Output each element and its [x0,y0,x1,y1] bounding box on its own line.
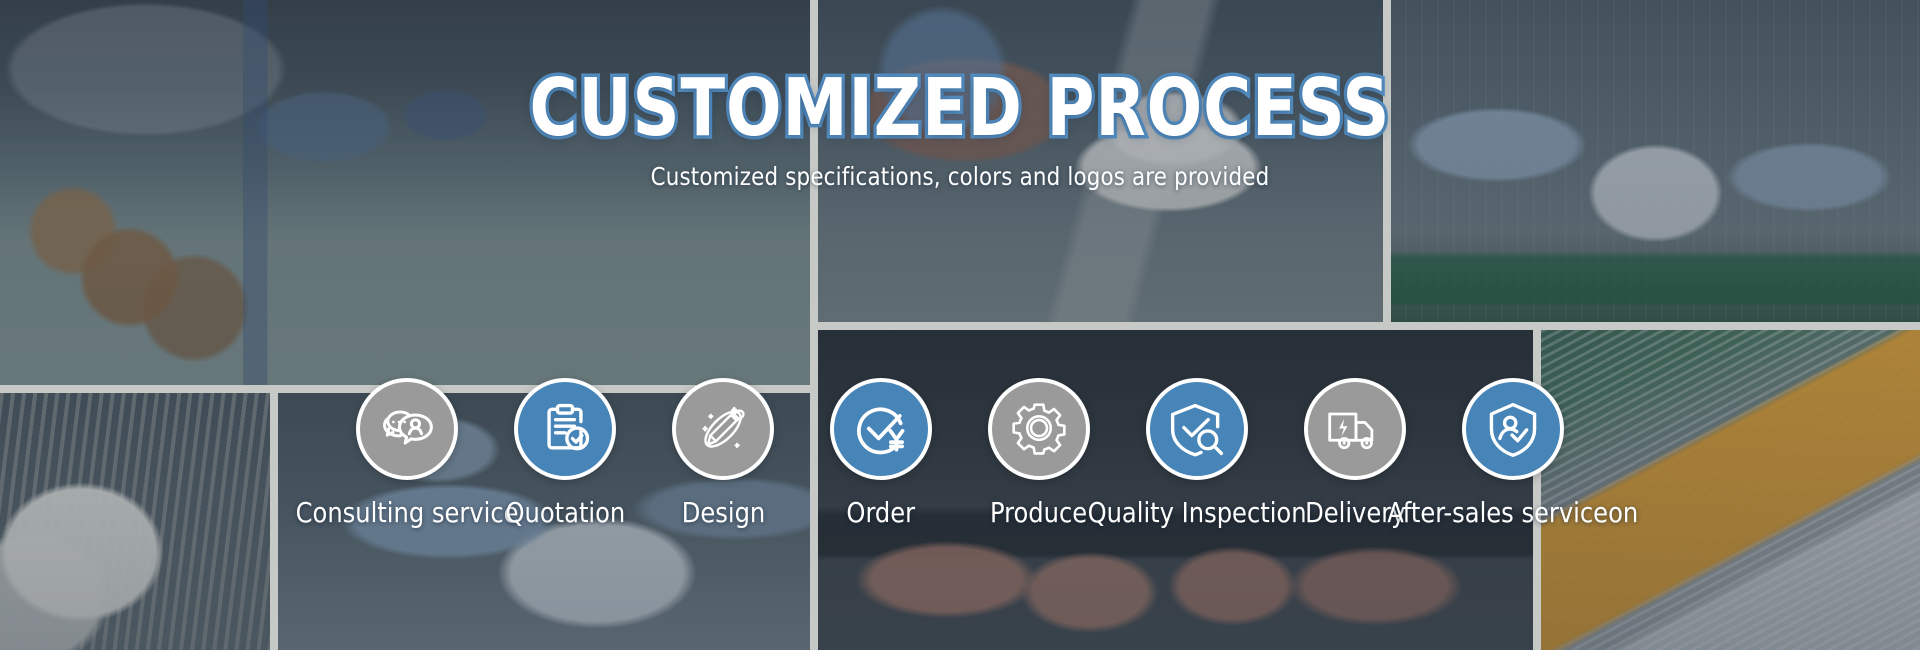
step-quality-inspection[interactable]: Quality Inspection [1118,378,1276,529]
step-order[interactable]: Order [802,378,960,529]
photo-collage [0,0,1920,650]
step-label: Quotation [505,498,625,529]
gear-icon [988,378,1090,480]
pencil-orbit-icon [672,378,774,480]
step-quotation[interactable]: Quotation [486,378,644,529]
step-label: Design [681,498,765,529]
shield-person-check-icon [1462,378,1564,480]
step-label: Quality Inspection [1088,498,1307,529]
chat-bubbles-person-icon [356,378,458,480]
customized-process-banner: CUSTOMIZED PROCESS Customized specificat… [0,0,1920,650]
step-after-sales-service[interactable]: After-sales serviceon [1434,378,1592,529]
photo-worker-inspecting-tissue [818,0,1383,322]
shield-check-search-icon [1146,378,1248,480]
photo-conveyor-packing-line [1391,0,1920,322]
truck-bolt-icon [1304,378,1406,480]
step-consulting-service[interactable]: Consulting service [328,378,486,529]
step-label: Consulting service [296,498,519,529]
photo-factory-floor-boxes [0,0,810,385]
clipboard-check-icon [514,378,616,480]
step-label: Produce [990,498,1087,529]
step-label: After-sales serviceon [1388,498,1639,529]
step-label: Order [847,498,916,529]
check-circle-yen-icon [830,378,932,480]
step-design[interactable]: Design [644,378,802,529]
process-steps: Consulting service Quotation [0,378,1920,529]
